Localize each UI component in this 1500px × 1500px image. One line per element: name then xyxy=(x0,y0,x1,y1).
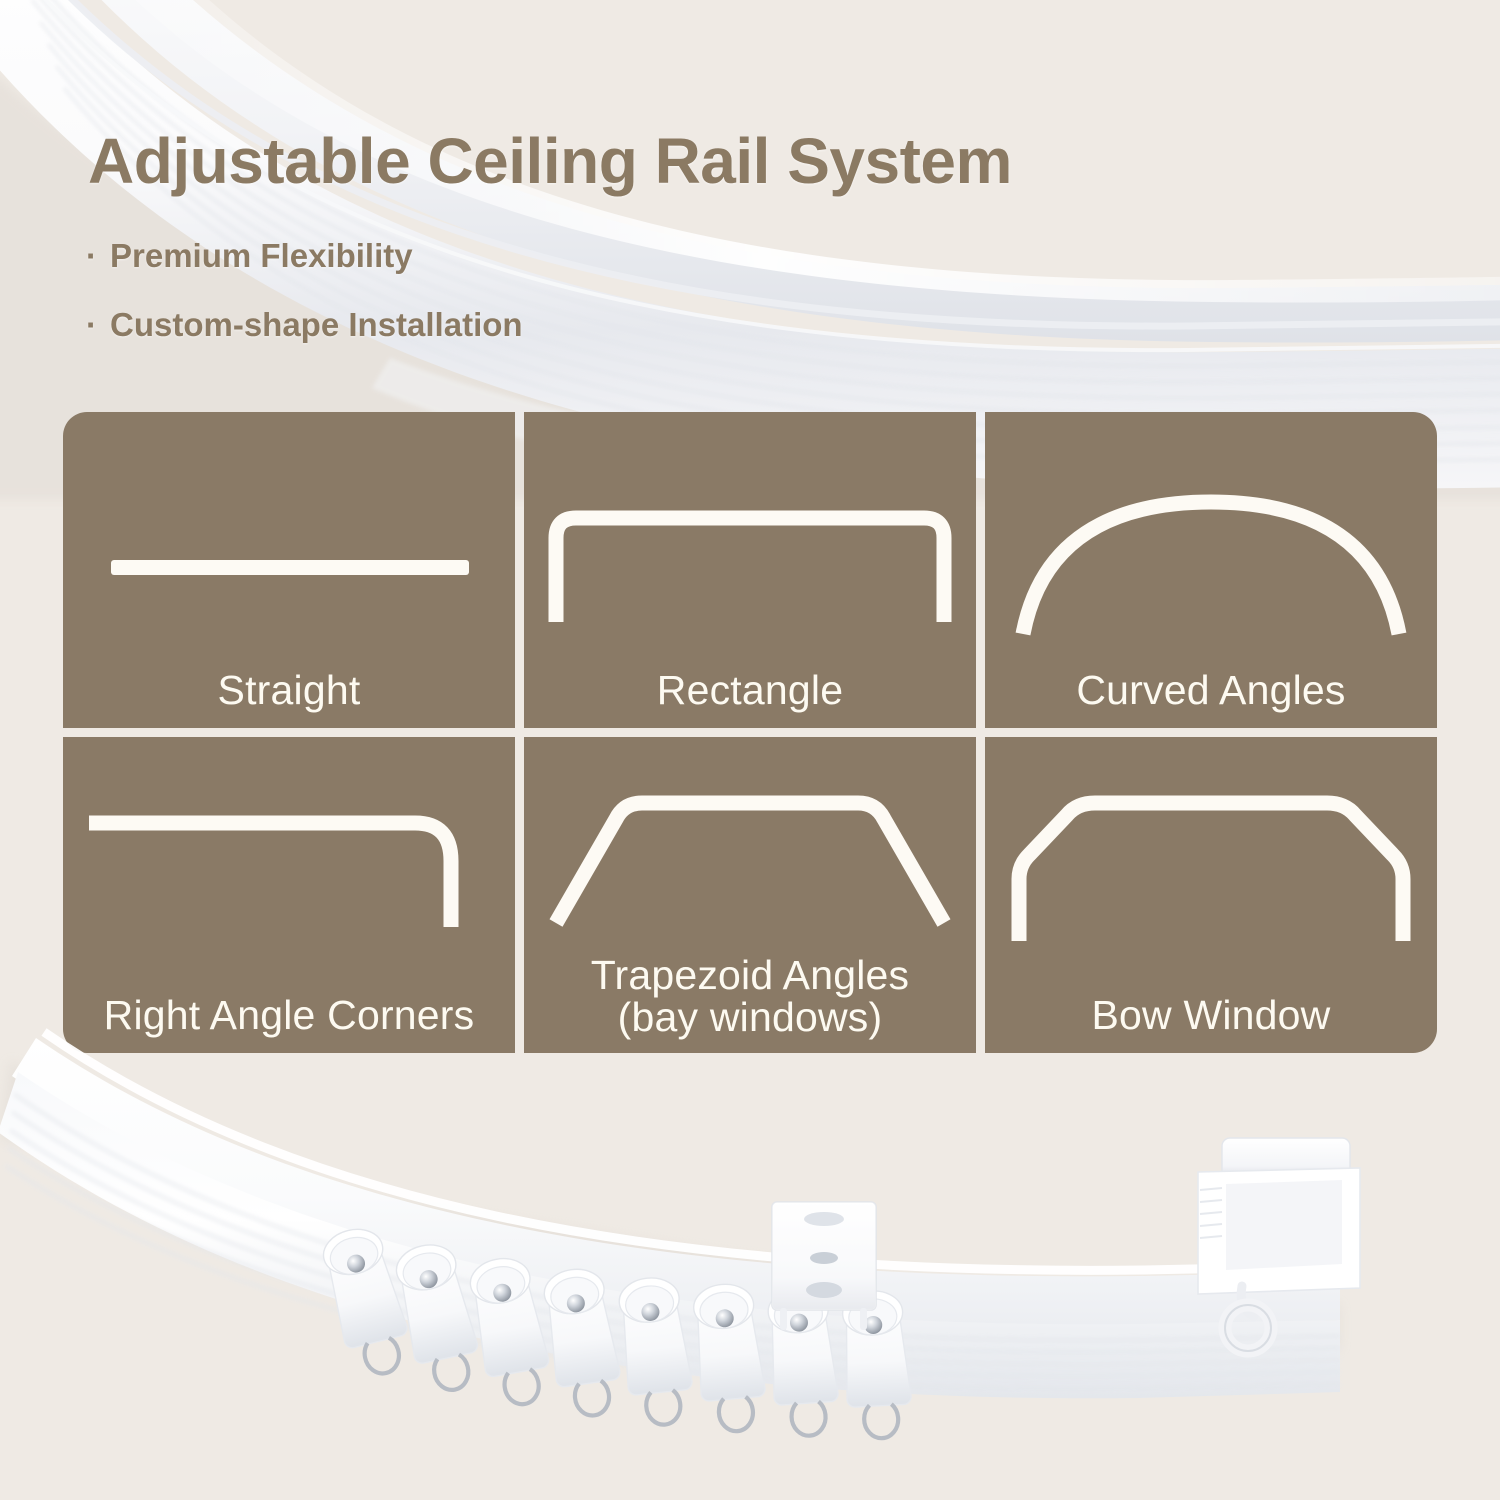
shape-cell-bow-window: Bow Window xyxy=(985,737,1437,1053)
shape-label: Trapezoid Angles (bay windows) xyxy=(524,954,976,1039)
shape-label: Bow Window xyxy=(985,994,1437,1037)
shape-label-text: Rectangle xyxy=(657,667,843,713)
page-title: Adjustable Ceiling Rail System xyxy=(88,124,1012,198)
shape-label-text: Bow Window xyxy=(1092,992,1331,1038)
end-cap-with-hook-ring xyxy=(1198,1138,1360,1351)
shape-label: Right Angle Corners xyxy=(63,994,515,1037)
bullet-dot-icon: · xyxy=(86,308,110,341)
shape-label-subtext: (bay windows) xyxy=(524,996,976,1039)
bottom-rail-photo xyxy=(0,1020,1500,1500)
bullet-dot-icon: · xyxy=(86,239,110,272)
shape-label: Straight xyxy=(63,669,515,712)
feature-bullet-label: Premium Flexibility xyxy=(110,237,413,275)
product-infographic: Adjustable Ceiling Rail System · Premium… xyxy=(0,0,1500,1500)
roller-glide-group xyxy=(319,1222,914,1440)
shape-cell-trapezoid-angles: Trapezoid Angles (bay windows) xyxy=(524,737,976,1053)
shape-cell-right-angle-corners: Right Angle Corners xyxy=(63,737,515,1053)
shape-label-text: Trapezoid Angles xyxy=(591,952,910,998)
shape-cell-rectangle: Rectangle xyxy=(524,412,976,728)
shape-label-text: Straight xyxy=(218,667,361,713)
feature-bullet-item: · Premium Flexibility xyxy=(86,237,846,275)
shape-label: Curved Angles xyxy=(985,669,1437,712)
shape-options-grid: Straight Rectangle Curved Angles xyxy=(63,412,1437,1053)
feature-bullet-label: Custom-shape Installation xyxy=(110,306,523,344)
feature-bullet-item: · Custom-shape Installation xyxy=(86,306,846,344)
shape-label: Rectangle xyxy=(524,669,976,712)
shape-cell-curved-angles: Curved Angles xyxy=(985,412,1437,728)
shape-label-text: Right Angle Corners xyxy=(104,992,475,1038)
ceiling-mount-bracket xyxy=(772,1202,876,1330)
shape-cell-straight: Straight xyxy=(63,412,515,728)
shape-label-text: Curved Angles xyxy=(1076,667,1345,713)
feature-bullet-list: · Premium Flexibility · Custom-shape Ins… xyxy=(86,237,846,375)
